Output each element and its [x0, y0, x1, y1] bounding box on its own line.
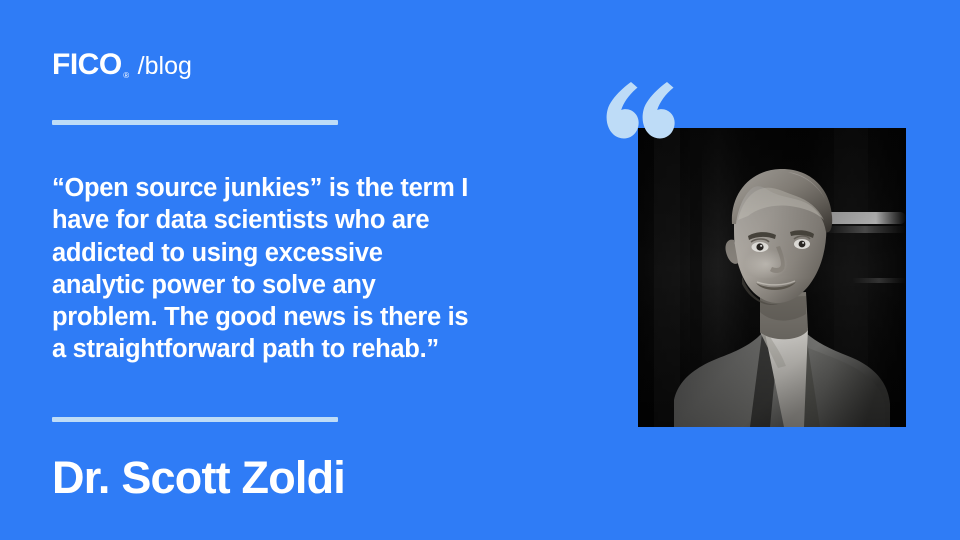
author-name: Dr. Scott Zoldi: [52, 454, 345, 501]
brand-logo[interactable]: FICO ® /blog: [52, 50, 192, 80]
quote-line: addicted to using excessive: [52, 237, 582, 269]
divider-top: [52, 120, 338, 125]
double-open-quote-icon: [598, 79, 678, 153]
fico-wordmark-text: FICO: [52, 48, 122, 81]
quote-line: have for data scientists who are: [52, 204, 582, 236]
divider-bottom: [52, 417, 338, 422]
author-portrait-photo: [638, 128, 906, 427]
quote-line: analytic power to solve any: [52, 269, 582, 301]
quote-line: a straightforward path to rehab.”: [52, 333, 582, 365]
fico-wordmark-icon: FICO ®: [52, 50, 122, 80]
quote-line: problem. The good news is there is: [52, 301, 582, 333]
quote-line: “Open source junkies” is the term I: [52, 172, 582, 204]
quote-card: FICO ® /blog “Open source junkies” is th…: [0, 0, 960, 540]
brand-section-label: /blog: [138, 54, 192, 79]
registered-trademark-icon: ®: [123, 72, 128, 80]
quote-text: “Open source junkies” is the term I have…: [52, 172, 582, 366]
